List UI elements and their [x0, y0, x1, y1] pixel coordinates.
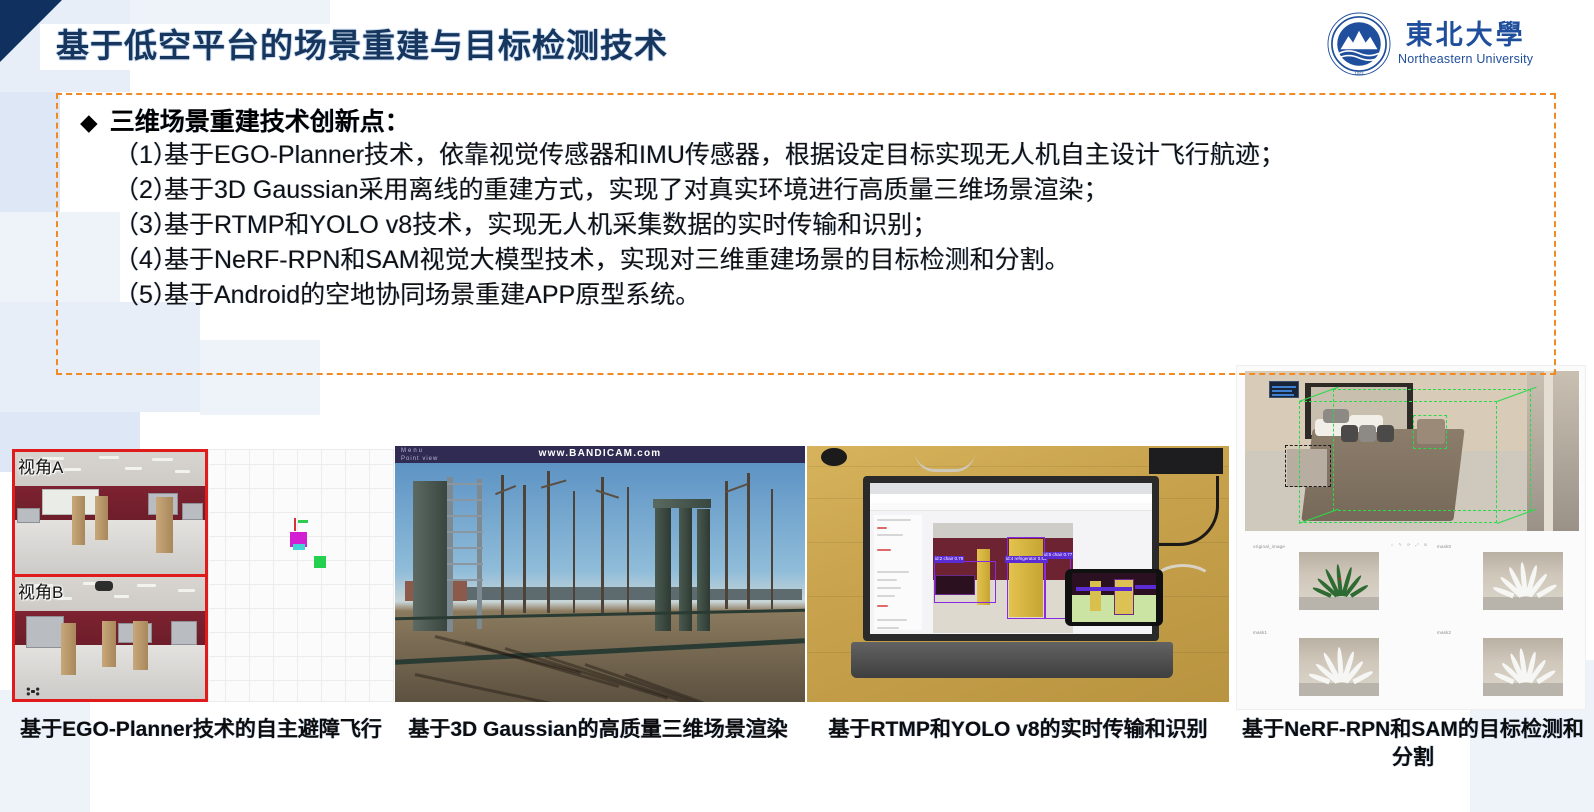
title-plate: 基于低空平台的场景重建与目标检测技术: [40, 24, 684, 71]
list-item-number: （3）: [114, 213, 164, 238]
diamond-bullet-icon: ◆: [80, 111, 98, 134]
bandicam-watermark: www.BANDICAM.com: [395, 448, 805, 459]
view-label-b: 视角B: [18, 578, 63, 603]
bg-block: [0, 92, 60, 212]
caption-nerf-rpn-sam: 基于NeRF-RPN和SAM的目标检测和分割: [1238, 716, 1588, 773]
neu-emblem-icon: 1923: [1326, 11, 1392, 77]
detection-label: id:4 refrigerator 0.55: [1005, 556, 1048, 563]
figure-ego-planner: 视角A: [12, 449, 394, 702]
ego-photo-stack: 视角A: [12, 449, 208, 702]
logo-text: 東北大學 Northeastern University: [1398, 22, 1533, 66]
list-item: （3） 基于RTMP和YOLO v8技术，实现无人机采集数据的实时传输和识别；: [114, 213, 1554, 238]
innovation-points-box: ◆ 三维场景重建技术创新点： （1） 基于EGO-Planner技术，依靠视觉传…: [56, 93, 1556, 375]
recorder-titlebar: Menu Point view www.BANDICAM.com: [395, 446, 805, 463]
list-item-number: （5）: [114, 283, 164, 308]
list-item-text: 基于Android的空地协同场景重建APP原型系统。: [164, 283, 1554, 308]
caption-3d-gaussian: 基于3D Gaussian的高质量三维场景渲染: [398, 716, 798, 744]
figure-row: 视角A: [0, 365, 1594, 715]
list-item: （1） 基于EGO-Planner技术，依靠视觉传感器和IMU传感器，根据设定目…: [114, 143, 1554, 168]
browser-tabs: [870, 494, 1152, 503]
lab-photo-view-b: 视角B: [15, 577, 205, 699]
logo-name-en: Northeastern University: [1398, 52, 1533, 66]
goal-marker: [314, 556, 326, 568]
path-marker: [293, 544, 305, 550]
section-heading: ◆ 三维场景重建技术创新点：: [80, 107, 1554, 137]
sam-label-mask0: mask0: [1437, 544, 1451, 549]
detection-label: id:2 chair 0.79: [934, 556, 964, 563]
list-item-number: （2）: [114, 178, 164, 203]
sam-label-mask2: mask2: [1437, 630, 1451, 635]
view-label-a: 视角A: [18, 453, 63, 478]
background-keyboard: [1149, 448, 1223, 474]
figure-rtmp-yolo: id:2 chair 0.79 id:4 refrigerator 0.55 i…: [807, 446, 1229, 702]
desk-cable: [915, 446, 975, 472]
title-bar: 基于低空平台的场景重建与目标检测技术: [0, 16, 1320, 78]
list-item-text: 基于NeRF-RPN和SAM视觉大模型技术，实现对三维重建场景的目标检测和分割。: [164, 248, 1554, 273]
figure-nerf-rpn-sam: ⌂ ✎ ⟳ ⤢ ⊞ original_image mask0: [1236, 365, 1586, 710]
list-item: （2） 基于3D Gaussian采用离线的重建方式，实现了对真实环境进行高质量…: [114, 178, 1554, 203]
nerf-rpn-3d-scene: [1245, 371, 1579, 531]
figure-captions: 基于EGO-Planner技术的自主避障飞行 基于3D Gaussian的高质量…: [0, 716, 1594, 812]
lab-photo-view-a: 视角A: [15, 452, 205, 574]
caption-ego-planner: 基于EGO-Planner技术的自主避障飞行: [10, 716, 392, 744]
list-item-text: 基于3D Gaussian采用离线的重建方式，实现了对真实环境进行高质量三维场景…: [164, 178, 1554, 203]
browser-chrome: [870, 483, 1152, 494]
svg-text:1923: 1923: [1355, 70, 1365, 75]
section-heading-label: 三维场景重建技术创新点：: [110, 107, 410, 137]
sam-segmentation-grid: ⌂ ✎ ⟳ ⤢ ⊞ original_image mask0: [1251, 538, 1577, 705]
sam-thumb-mask1: [1299, 638, 1379, 696]
desk-object: [821, 448, 847, 466]
sam-toolbar-icons[interactable]: ⌂ ✎ ⟳ ⤢ ⊞: [1391, 542, 1429, 547]
gaussian-rendered-scene: [395, 463, 805, 702]
list-item-number: （1）: [114, 143, 164, 168]
page-title: 基于低空平台的场景重建与目标检测技术: [56, 28, 668, 65]
detection-label: id:5 chair 0.77: [1043, 552, 1073, 559]
phone-screen: [1072, 573, 1156, 622]
laptop-base: [851, 642, 1173, 678]
sam-prompt-point: [1339, 578, 1341, 580]
sam-thumb-mask0: [1483, 552, 1563, 610]
list-item: （5） 基于Android的空地协同场景重建APP原型系统。: [114, 283, 1554, 308]
list-item: （4） 基于NeRF-RPN和SAM视觉大模型技术，实现对三维重建场景的目标检测…: [114, 248, 1554, 273]
logo-name-cn: 東北大學: [1406, 22, 1526, 49]
rviz-simulation-view: [208, 449, 394, 702]
list-item-number: （4）: [114, 248, 164, 273]
sam-thumb-mask2: [1483, 638, 1563, 696]
yolo-detection-frame: id:2 chair 0.79 id:4 refrigerator 0.55 i…: [933, 523, 1073, 633]
smartphone-stream: [1065, 569, 1163, 626]
university-logo: 1923 東北大學 Northeastern University: [1326, 8, 1576, 80]
app-sidebar: [874, 515, 922, 630]
caption-rtmp-yolo: 基于RTMP和YOLO v8的实时传输和识别: [808, 716, 1228, 744]
bookmark-bar: [870, 503, 1152, 511]
figure-3d-gaussian: Menu Point view www.BANDICAM.com: [395, 446, 805, 702]
drone-icon: [26, 687, 40, 696]
sam-label-mask1: mask1: [1253, 630, 1267, 635]
list-item-text: 基于EGO-Planner技术，依靠视觉传感器和IMU传感器，根据设定目标实现无…: [164, 143, 1554, 168]
nerf-viewer-widget[interactable]: [1269, 381, 1299, 398]
sam-label-original: original_image: [1253, 544, 1285, 549]
list-item-text: 基于RTMP和YOLO v8技术，实现无人机采集数据的实时传输和识别；: [164, 213, 1554, 238]
sam-thumb-original: [1299, 552, 1379, 610]
goal-axis-marker: [298, 520, 308, 523]
trajectory-axis-marker: [294, 518, 296, 531]
